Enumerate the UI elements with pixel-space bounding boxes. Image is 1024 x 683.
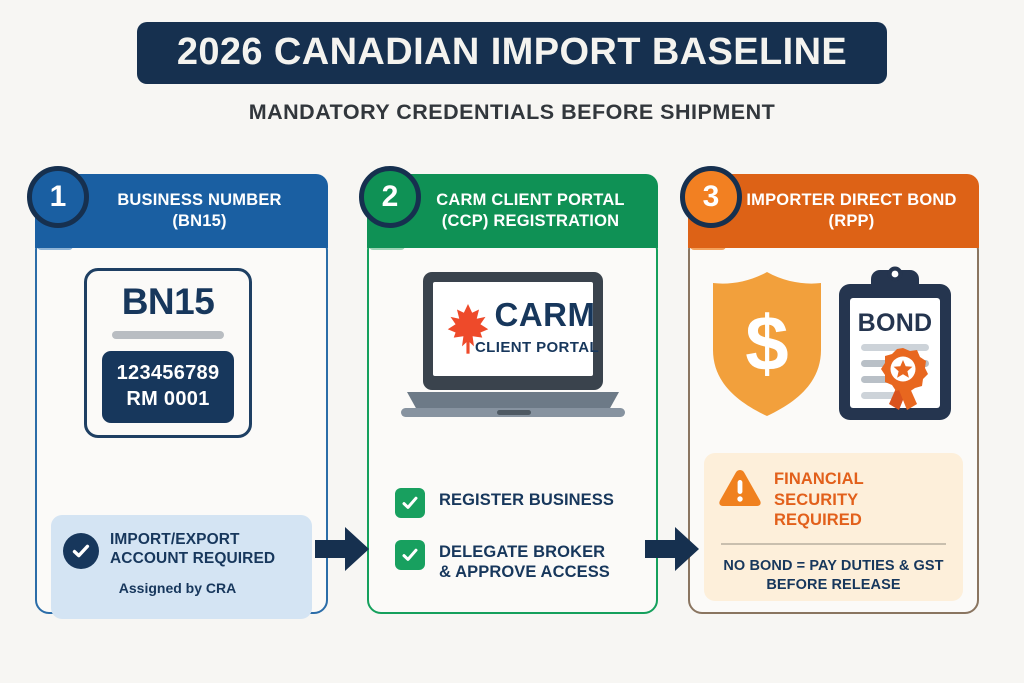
step3-alert-footnote: NO BOND = PAY DUTIES & GST BEFORE RELEAS… xyxy=(717,557,950,596)
step3-title-line-2: (RPP) xyxy=(734,211,969,232)
step1-info-box: IMPORT/EXPORT ACCOUNT REQUIRED Assigned … xyxy=(51,515,312,619)
step1-title-line-2: (BN15) xyxy=(81,211,318,232)
step3-title-line-1: IMPORTER DIRECT BOND xyxy=(746,191,956,209)
step2-body: CARM CLIENT PORTAL REGISTER BUSINESS xyxy=(367,236,658,614)
step3-alert-row: FINANCIAL SECURITY REQUIRED xyxy=(717,467,950,531)
step-card-carm-portal: CARM CLIENT PORTAL REGISTER BUSINESS xyxy=(367,174,658,614)
step3-alert-foot-line-2: BEFORE RELEASE xyxy=(717,576,950,596)
step3-number-badge: 3 xyxy=(680,166,742,228)
step1-body: BN15 123456789 RM 0001 IMPORT/EXPORT xyxy=(35,236,328,614)
divider xyxy=(112,331,224,339)
bn15-number-line-1: 123456789 xyxy=(102,360,234,386)
arrow-right-icon xyxy=(315,525,369,573)
step1-number-badge: 1 xyxy=(27,166,89,228)
step3-alert-box: FINANCIAL SECURITY REQUIRED NO BOND = PA… xyxy=(704,453,963,601)
step1-info-subtext: Assigned by CRA xyxy=(63,580,300,596)
svg-text:CLIENT PORTAL: CLIENT PORTAL xyxy=(474,339,598,356)
step3-alert-title: FINANCIAL SECURITY REQUIRED xyxy=(774,467,950,531)
bn15-number-line-2: RM 0001 xyxy=(102,386,234,412)
svg-text:BOND: BOND xyxy=(857,309,932,337)
step1-info-row: IMPORT/EXPORT ACCOUNT REQUIRED xyxy=(63,531,300,569)
checklist-item-2-line-2: & APPROVE ACCESS xyxy=(439,563,610,583)
page-title: 2026 CANADIAN IMPORT BASELINE xyxy=(177,33,847,71)
list-item: DELEGATE BROKER & APPROVE ACCESS xyxy=(395,540,642,583)
list-item: REGISTER BUSINESS xyxy=(395,488,642,518)
bond-illustration: $ BOND xyxy=(705,258,963,438)
laptop-illustration: CARM CLIENT PORTAL xyxy=(397,270,629,420)
step3-body: $ BOND xyxy=(688,236,979,614)
step2-checklist: REGISTER BUSINESS DELEGATE BROKER & APPR… xyxy=(395,488,642,605)
step1-title-line-1: BUSINESS NUMBER xyxy=(117,191,281,209)
svg-text:$: $ xyxy=(745,299,788,387)
checklist-item-1-line-1: REGISTER BUSINESS xyxy=(439,491,614,511)
warning-triangle-icon xyxy=(717,467,763,514)
step3-alert-title-line-1: FINANCIAL SECURITY xyxy=(774,469,950,510)
checklist-label: REGISTER BUSINESS xyxy=(439,488,614,511)
page-subtitle: MANDATORY CREDENTIALS BEFORE SHIPMENT xyxy=(0,100,1024,125)
svg-text:CARM: CARM xyxy=(494,296,595,333)
step1-info-line-2: ACCOUNT REQUIRED xyxy=(110,550,275,569)
steps-row: BN15 123456789 RM 0001 IMPORT/EXPORT xyxy=(0,174,1024,616)
step1-info-text: IMPORT/EXPORT ACCOUNT REQUIRED xyxy=(110,531,275,569)
step-card-business-number: BN15 123456789 RM 0001 IMPORT/EXPORT xyxy=(35,174,328,614)
check-square-icon xyxy=(395,488,425,518)
check-square-icon xyxy=(395,540,425,570)
bn15-label: BN15 xyxy=(87,283,249,320)
step3-alert-title-line-2: REQUIRED xyxy=(774,510,950,531)
checklist-label: DELEGATE BROKER & APPROVE ACCESS xyxy=(439,540,610,583)
title-banner: 2026 CANADIAN IMPORT BASELINE xyxy=(137,22,887,84)
shield-icon: $ xyxy=(713,272,821,416)
step3-alert-foot-line-1: NO BOND = PAY DUTIES & GST xyxy=(717,557,950,577)
bn15-number-box: 123456789 RM 0001 xyxy=(102,351,234,423)
arrow-right-icon xyxy=(645,525,699,573)
step2-title-line-1: CARM CLIENT PORTAL xyxy=(436,191,624,209)
check-circle-icon xyxy=(63,533,99,569)
checklist-item-2-line-1: DELEGATE BROKER xyxy=(439,543,610,563)
step-card-importer-direct-bond: $ BOND xyxy=(688,174,979,614)
step2-title-line-2: (CCP) REGISTRATION xyxy=(413,211,648,232)
step2-number-badge: 2 xyxy=(359,166,421,228)
bn15-card: BN15 123456789 RM 0001 xyxy=(84,268,252,438)
divider xyxy=(721,543,946,545)
title-section: 2026 CANADIAN IMPORT BASELINE MANDATORY … xyxy=(0,0,1024,125)
step1-info-line-1: IMPORT/EXPORT xyxy=(110,531,275,550)
